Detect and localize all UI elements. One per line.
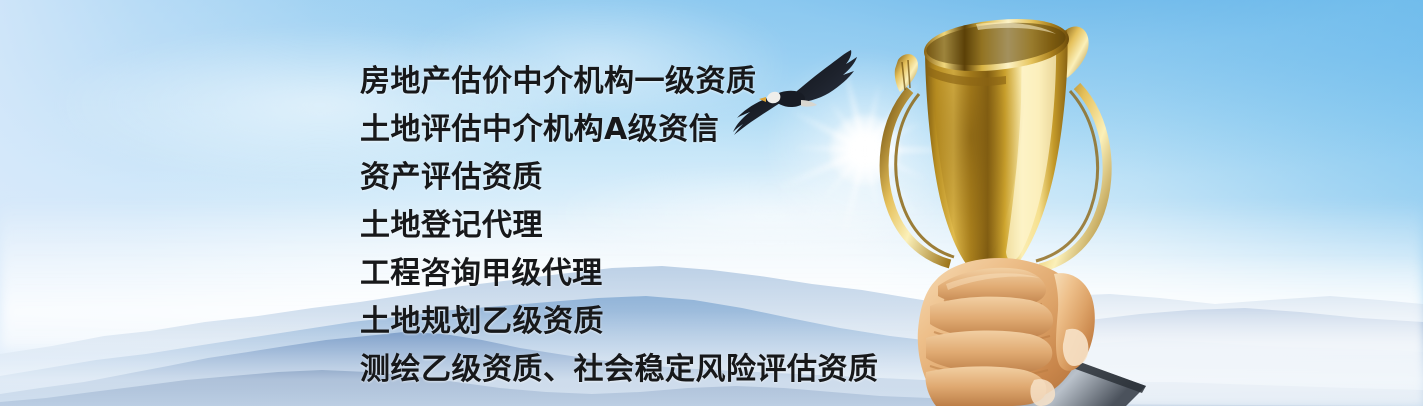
hand-finger-pinky: [925, 366, 1046, 406]
qualification-line-5: 工程咨询甲级代理: [360, 250, 900, 298]
qualification-line-2: 土地评估中介机构A级资信: [360, 106, 900, 154]
qualification-line-6: 土地规划乙级资质: [360, 298, 900, 346]
qualification-line-7: 测绘乙级资质、社会稳定风险评估资质: [360, 346, 900, 394]
qualification-line-1: 房地产估价中介机构一级资质: [360, 58, 900, 106]
promo-banner: 房地产估价中介机构一级资质 土地评估中介机构A级资信 资产评估资质 土地登记代理…: [0, 0, 1423, 406]
qualification-line-3: 资产评估资质: [360, 154, 900, 202]
qualification-line-4: 土地登记代理: [360, 202, 900, 250]
qualification-list: 房地产估价中介机构一级资质 土地评估中介机构A级资信 资产评估资质 土地登记代理…: [360, 58, 900, 394]
